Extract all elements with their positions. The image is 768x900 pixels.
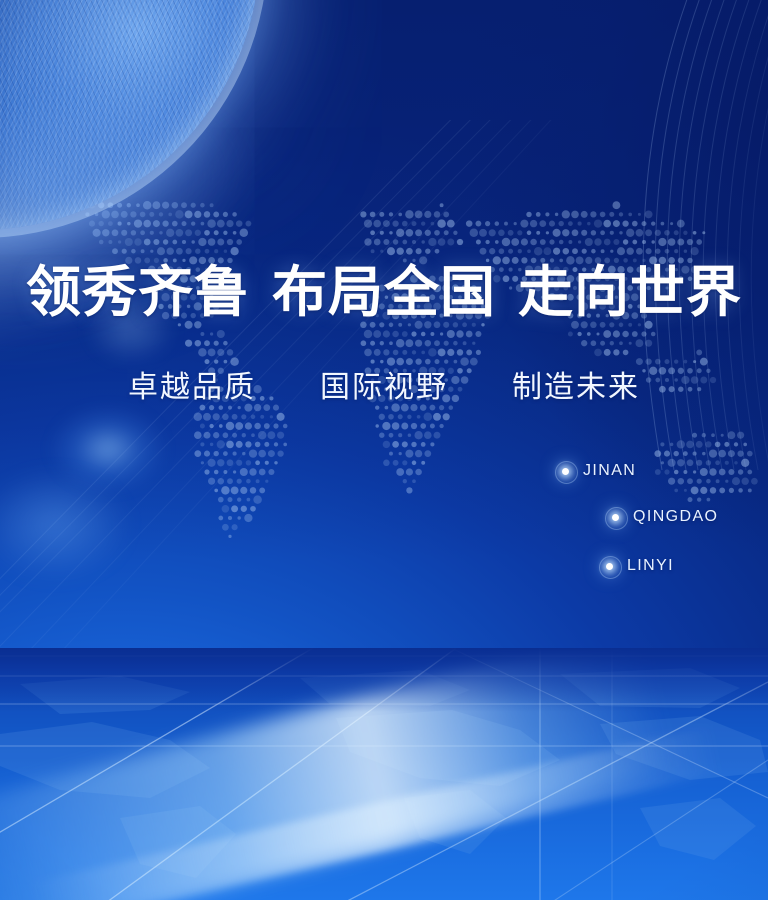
city-label: QINGDAO <box>633 508 718 526</box>
hero-banner: 领秀齐鲁布局全国走向世界 卓越品质国际视野制造未来 JINAN QINGDAO … <box>0 0 768 900</box>
city-label: JINAN <box>583 462 636 480</box>
city-marker-qingdao[interactable]: QINGDAO <box>612 508 718 526</box>
city-dot-icon <box>612 514 619 521</box>
headline-segment-3: 走向世界 <box>518 262 742 324</box>
vignette <box>0 0 768 900</box>
city-label: LINYI <box>627 557 674 575</box>
city-marker-linyi[interactable]: LINYI <box>606 557 674 575</box>
city-dot-icon <box>562 468 569 475</box>
headline-segment-1: 领秀齐鲁 <box>26 262 250 324</box>
subline-segment-2: 国际视野 <box>320 368 448 408</box>
city-marker-jinan[interactable]: JINAN <box>562 462 636 480</box>
page-subtitle: 卓越品质国际视野制造未来 <box>0 368 768 408</box>
headline-segment-2: 布局全国 <box>272 262 496 324</box>
page-title: 领秀齐鲁布局全国走向世界 <box>0 262 768 324</box>
city-dot-icon <box>606 563 613 570</box>
subline-segment-1: 卓越品质 <box>128 368 256 408</box>
subline-segment-3: 制造未来 <box>512 368 640 408</box>
